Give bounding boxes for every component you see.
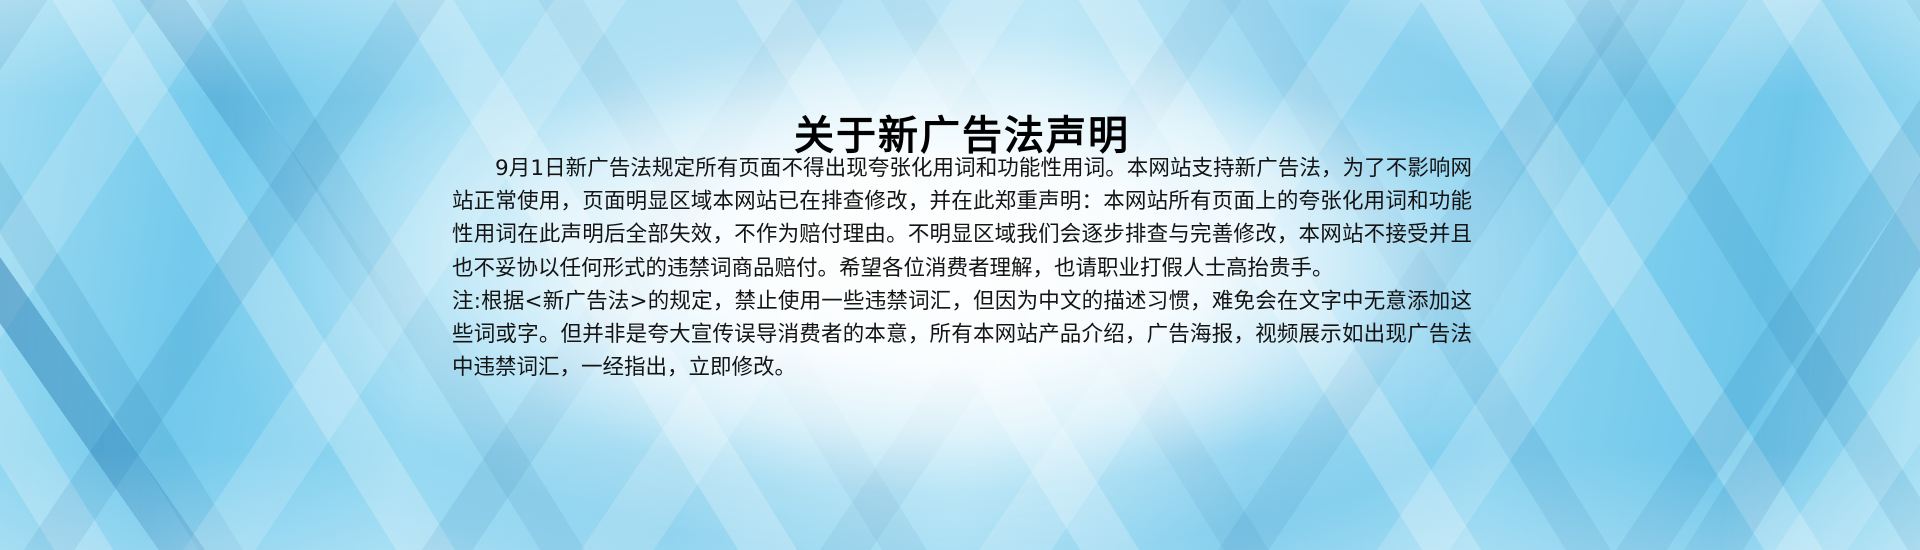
statement-body: 9月1日新广告法规定所有页面不得出现夸张化用词和功能性用词。本网站支持新广告法，… <box>452 152 1472 384</box>
statement-paragraph-note: 注:根据<新广告法>的规定，禁止使用一些违禁词汇，但因为中文的描述习惯，难免会在… <box>452 285 1472 385</box>
background-accent-chevrons-left <box>0 0 420 550</box>
statement-content: 关于新广告法声明 9月1日新广告法规定所有页面不得出现夸张化用词和功能性用词。本… <box>452 0 1472 550</box>
advertising-law-statement-banner: 关于新广告法声明 9月1日新广告法规定所有页面不得出现夸张化用词和功能性用词。本… <box>0 0 1920 550</box>
background-accent-chevrons-right <box>1400 0 1920 550</box>
statement-paragraph-main: 9月1日新广告法规定所有页面不得出现夸张化用词和功能性用词。本网站支持新广告法，… <box>452 152 1472 285</box>
